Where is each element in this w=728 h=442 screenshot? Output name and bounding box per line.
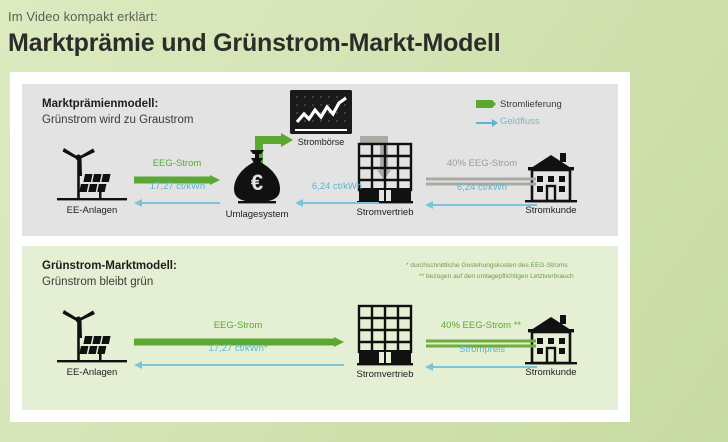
flow-label-verguetung-1: 17,27 ct/kWh	[130, 181, 225, 192]
flow-label-strompreis: Strompreis	[427, 344, 537, 355]
flow-label-eeg-strom-2: EEG-Strom	[134, 320, 342, 331]
flow-label-graustrom-lieferung: 40% EEG-Strom	[427, 158, 537, 169]
panel2-title-line2: Grünstrom bleibt grün	[42, 275, 177, 290]
header-kicker: Im Video kompakt erklärt:	[8, 2, 720, 26]
node-label-ee-anlagen: EE-Anlagen	[50, 205, 134, 216]
panel2-title-line1: Grünstrom-Marktmodell:	[42, 259, 177, 274]
panel1-title-line1: Marktprämienmodell:	[42, 97, 193, 112]
money-bag-euro-icon: €	[230, 144, 284, 206]
flow-label-geldfluss-kunde: 6,24 ct/kWh	[427, 182, 537, 193]
green-bar-arrow-icon	[476, 100, 493, 108]
node-umlagesystem: € Umlagesystem	[214, 144, 300, 220]
legend-label-stromlieferung: Stromlieferung	[500, 99, 562, 110]
flow-arrow-strompreis	[425, 358, 537, 376]
flow-arrow-verguetung-2	[134, 356, 344, 374]
flow-label-verguetung-2: 17,27 ct/kWh*	[134, 343, 342, 354]
node-ee-anlagen: EE-Anlagen	[50, 146, 134, 216]
panel2-title: Grünstrom-Marktmodell: Grünstrom bleibt …	[42, 259, 177, 290]
footnotes: * durchschnittliche Gestehungskosten des…	[406, 260, 616, 282]
panel1-title-line2: Grünstrom wird zu Graustrom	[42, 113, 193, 128]
legend-label-geldfluss: Geldfluss	[500, 116, 540, 127]
wind-turbine-solar-icon	[55, 146, 129, 202]
flow-label-gruenstrom-lieferung: 40% EEG-Strom **	[425, 320, 537, 331]
node-label-stromvertrieb-2: Stromvertrieb	[345, 369, 425, 380]
stock-chart-board-icon	[290, 90, 352, 134]
node-stromvertrieb-2: Stromvertrieb	[345, 304, 425, 380]
blue-arrow-icon	[476, 122, 493, 124]
node-ee-anlagen-2: EE-Anlagen	[50, 308, 134, 378]
page-title: Marktprämie und Grünstrom-Markt-Modell	[8, 27, 720, 59]
legend-item-geldfluss: Geldfluss	[476, 114, 596, 128]
footnote-2: ** bezogen auf den umlagepflichtigen Let…	[406, 271, 616, 282]
page-header: Im Video kompakt erklärt: Marktprämie un…	[8, 2, 720, 59]
flow-arrow-verguetung-1	[134, 194, 220, 212]
panel-marktpraemienmodell: Marktprämienmodell: Grünstrom wird zu Gr…	[22, 84, 618, 236]
panel-gruenstrom-marktmodell: Grünstrom-Marktmodell: Grünstrom bleibt …	[22, 246, 618, 410]
flow-arrow-geldfluss-kunde	[425, 196, 537, 214]
node-label-umlagesystem: Umlagesystem	[214, 209, 300, 220]
wind-turbine-solar-icon	[55, 308, 129, 364]
panel1-title: Marktprämienmodell: Grünstrom wird zu Gr…	[42, 97, 193, 128]
infographic-card: Marktprämienmodell: Grünstrom wird zu Gr…	[10, 72, 630, 422]
svg-text:€: €	[251, 170, 263, 195]
flow-label-eeg-strom-1: EEG-Strom	[132, 158, 222, 169]
node-label-ee-anlagen-2: EE-Anlagen	[50, 367, 134, 378]
flow-arrow-geldfluss-vertrieb-umlage	[295, 194, 379, 212]
node-stromboerse: Strombörse	[286, 90, 356, 147]
legend-item-stromlieferung: Stromlieferung	[476, 97, 596, 111]
footnote-1: * durchschnittliche Gestehungskosten des…	[406, 260, 616, 271]
legend: Stromlieferung Geldfluss	[476, 97, 596, 131]
flow-label-geldfluss-vertrieb-umlage: 6,24 ct/kWh	[294, 181, 380, 192]
office-building-icon	[357, 304, 413, 366]
